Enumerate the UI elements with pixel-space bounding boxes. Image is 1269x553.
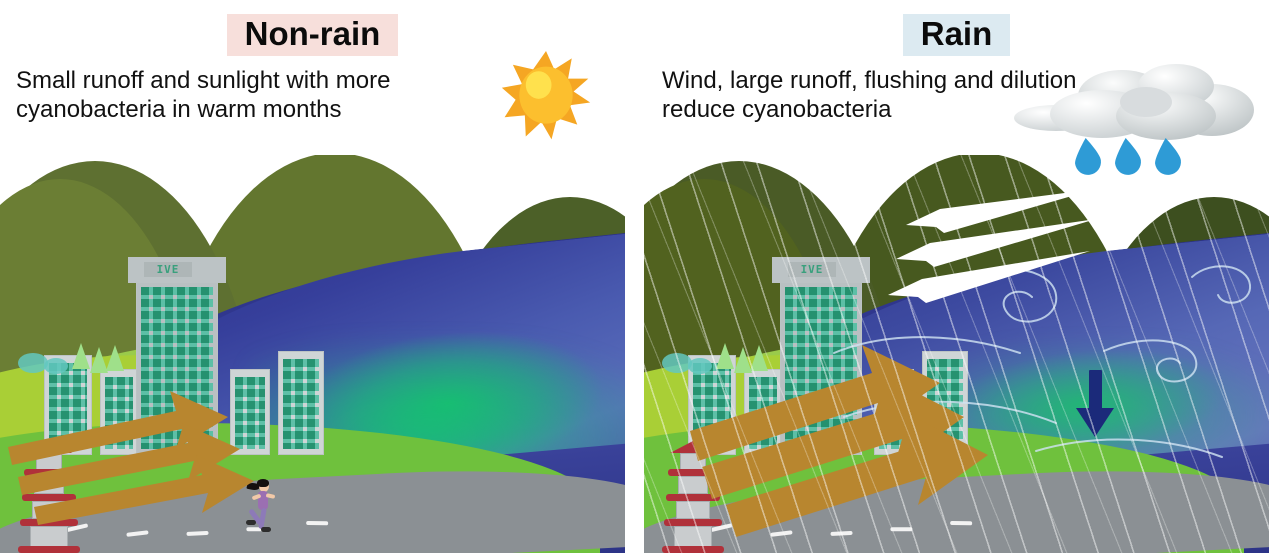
conifer-tree-icon bbox=[716, 343, 734, 369]
jogger-shoe bbox=[246, 520, 256, 525]
jogger-shoe bbox=[261, 527, 271, 532]
sun-icon bbox=[500, 48, 592, 146]
building-windows bbox=[927, 359, 963, 449]
pagoda-tier bbox=[674, 526, 712, 548]
road-dash bbox=[950, 521, 972, 525]
pagoda-eave bbox=[18, 546, 80, 553]
building-4-icon bbox=[922, 351, 968, 455]
pagoda-tier bbox=[30, 526, 68, 548]
shrub-icon bbox=[44, 358, 68, 374]
pagoda-eave bbox=[662, 546, 724, 553]
pagoda-tier bbox=[678, 476, 708, 494]
panel-rain: Rain Wind, large runoff, flushing and di… bbox=[644, 0, 1269, 553]
conifer-tree-icon bbox=[72, 343, 90, 369]
building-windows bbox=[785, 287, 857, 449]
building-windows bbox=[283, 359, 319, 449]
figure-root: Non-rain Small runoff and sunlight with … bbox=[0, 0, 1269, 553]
building-4-icon bbox=[278, 351, 324, 455]
pagoda-eave bbox=[22, 494, 76, 501]
panel-title-non-rain: Non-rain bbox=[227, 14, 399, 56]
pagoda-icon bbox=[662, 441, 724, 553]
pagoda-tier bbox=[676, 501, 710, 519]
pagoda-roof bbox=[670, 441, 716, 453]
building-2-icon bbox=[100, 369, 138, 455]
scene-non-rain: IVE bbox=[0, 155, 625, 553]
city-skyline: IVE bbox=[684, 195, 984, 455]
building-windows bbox=[49, 363, 87, 449]
road-dash bbox=[126, 530, 148, 537]
pagoda-eave bbox=[666, 494, 720, 501]
building-windows bbox=[141, 287, 213, 449]
road-dash bbox=[186, 531, 208, 536]
pagoda-roof bbox=[26, 441, 72, 453]
panel-caption-non-rain: Small runoff and sunlight with more cyan… bbox=[16, 66, 486, 125]
tower-cap: IVE bbox=[772, 257, 870, 283]
tower-sign-label: IVE bbox=[144, 262, 192, 277]
pagoda-eave bbox=[20, 519, 78, 526]
building-windows bbox=[105, 377, 133, 449]
raindrops bbox=[1072, 136, 1183, 176]
city-skyline: IVE bbox=[40, 195, 340, 455]
rain-cloud-icon bbox=[1016, 58, 1261, 163]
conifer-tree-icon bbox=[106, 345, 124, 371]
tower-sign-label: IVE bbox=[788, 262, 836, 277]
road-dash bbox=[306, 521, 328, 525]
building-3-icon bbox=[230, 369, 270, 455]
road-dash bbox=[830, 531, 852, 536]
panel-non-rain: Non-rain Small runoff and sunlight with … bbox=[0, 0, 625, 553]
jogger-figure-icon bbox=[248, 479, 276, 537]
road-dash bbox=[890, 527, 912, 531]
pagoda-eave bbox=[668, 469, 718, 476]
pagoda-eave bbox=[24, 469, 74, 476]
pagoda-tier bbox=[34, 476, 64, 494]
conifer-tree-icon bbox=[750, 345, 768, 371]
road-dash bbox=[770, 530, 792, 537]
pagoda-icon bbox=[18, 441, 80, 553]
pagoda-tier bbox=[32, 501, 66, 519]
tower-building-icon: IVE bbox=[780, 257, 862, 455]
panel-header-non-rain: Non-rain Small runoff and sunlight with … bbox=[0, 0, 625, 160]
scene-rain: IVE bbox=[644, 155, 1269, 553]
panel-title-rain: Rain bbox=[903, 14, 1011, 56]
building-2-icon bbox=[744, 369, 782, 455]
building-3-icon bbox=[874, 369, 914, 455]
building-windows bbox=[693, 363, 731, 449]
cloud-puffs bbox=[1014, 64, 1254, 140]
building-windows bbox=[235, 377, 265, 449]
building-windows bbox=[879, 377, 909, 449]
panel-header-rain: Rain Wind, large runoff, flushing and di… bbox=[644, 0, 1269, 160]
shrub-icon bbox=[688, 358, 712, 374]
tower-building-icon: IVE bbox=[136, 257, 218, 455]
pagoda-eave bbox=[664, 519, 722, 526]
jogger-hair bbox=[257, 479, 269, 487]
tower-cap: IVE bbox=[128, 257, 226, 283]
building-windows bbox=[749, 377, 777, 449]
